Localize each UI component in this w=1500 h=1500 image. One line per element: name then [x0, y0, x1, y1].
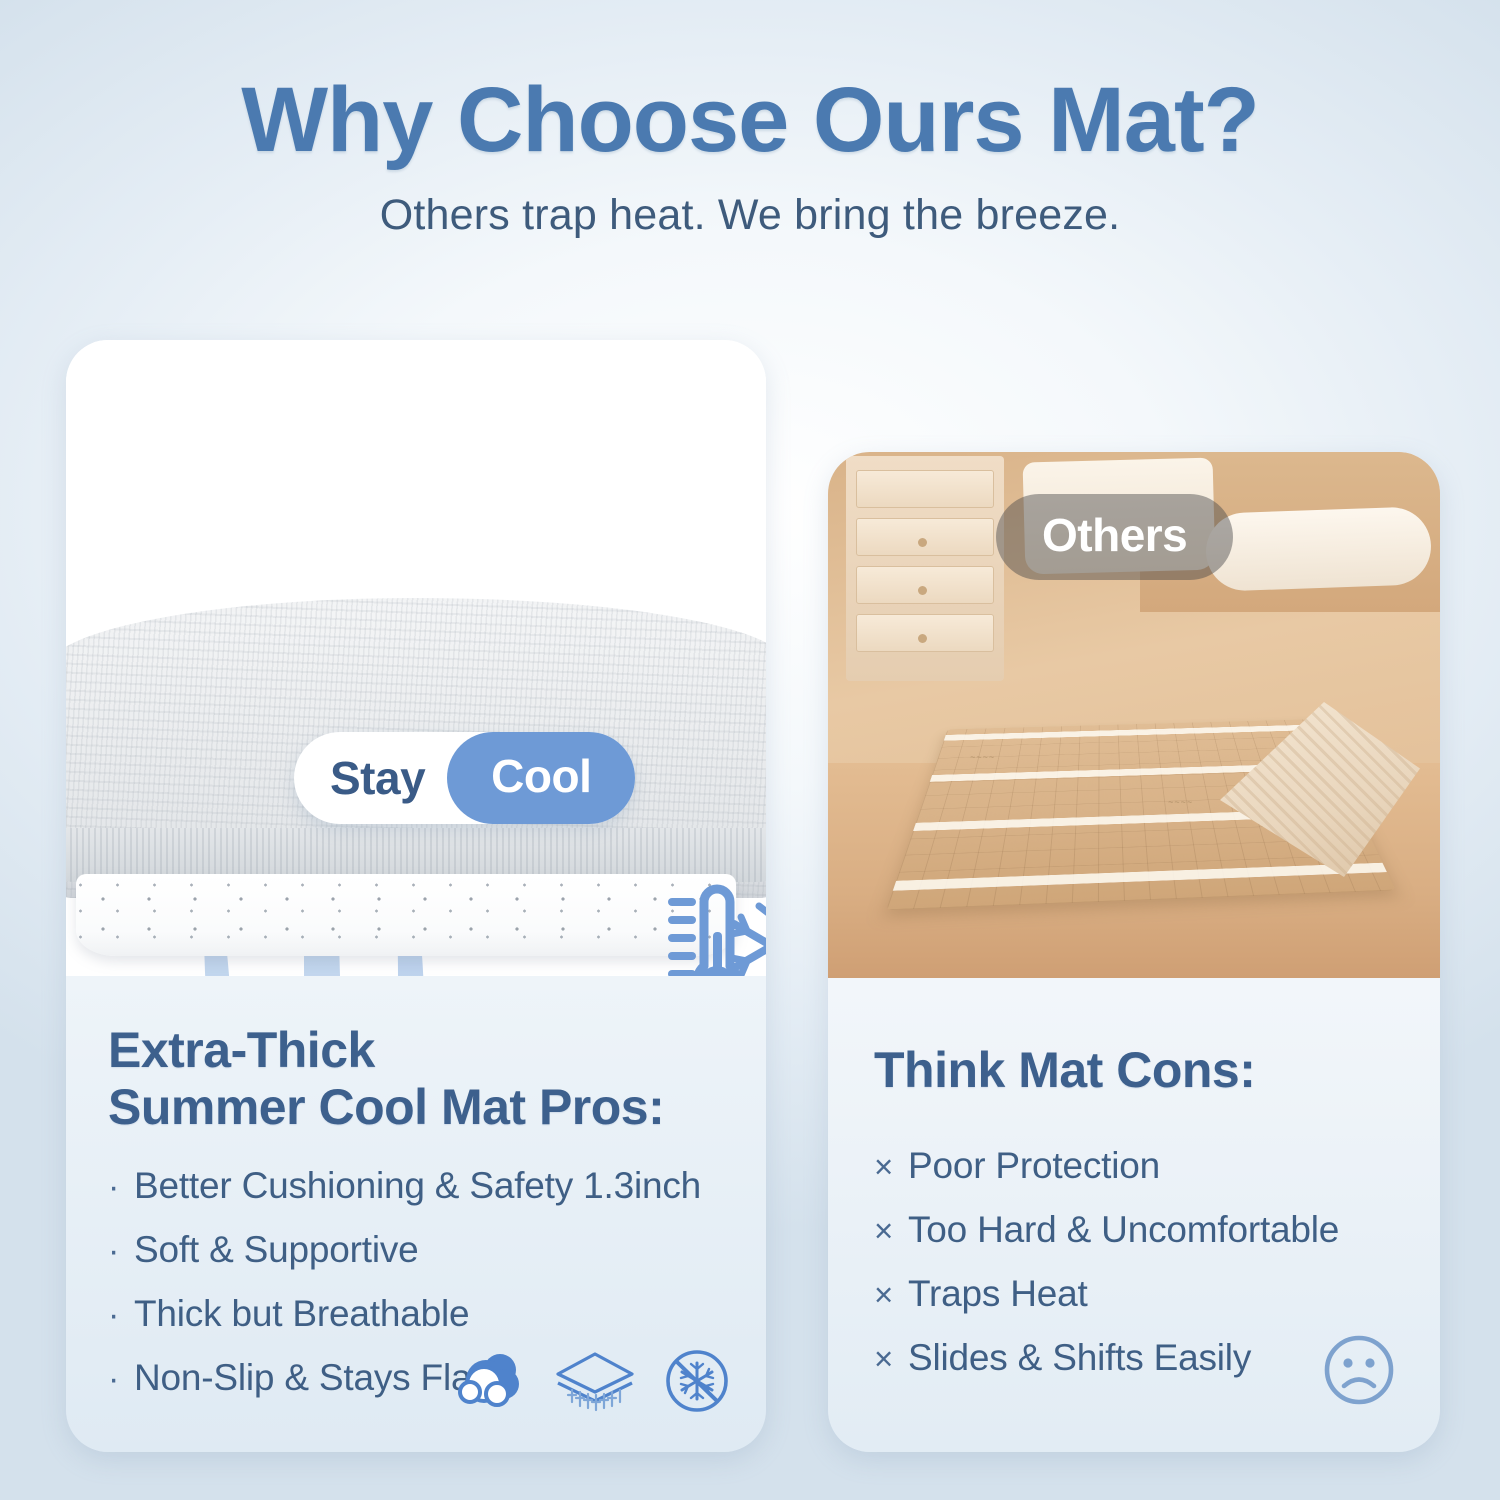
others-mat-card: ~~~~ ~~~~ Others Think Mat Cons: × Poor … [828, 452, 1440, 1452]
cons-icon-row [1322, 1333, 1396, 1412]
no-mites-icon [664, 1348, 730, 1414]
ours-mat-card: Stay Cool Extra-Thick Summer Cool Mat Pr… [66, 340, 766, 1452]
list-item: × Traps Heat [874, 1273, 1404, 1315]
bullet-icon: · [108, 1296, 134, 1335]
nightstand [846, 456, 1004, 681]
cool-label: Cool [447, 732, 635, 824]
page-title: Why Choose Ours Mat? [0, 72, 1500, 169]
list-item-label: Too Hard & Uncomfortable [908, 1209, 1339, 1251]
mat-brand-text: ~~~~ [1168, 797, 1193, 807]
list-item: · Better Cushioning & Safety 1.3inch [108, 1165, 726, 1207]
bullet-icon: · [108, 1360, 134, 1399]
sad-face-icon [1322, 1333, 1396, 1407]
list-item: × Too Hard & Uncomfortable [874, 1209, 1404, 1251]
bullet-icon: · [108, 1168, 134, 1207]
list-item: · Thick but Breathable [108, 1293, 726, 1335]
stay-cool-badge: Stay Cool [294, 732, 635, 824]
list-item-label: Better Cushioning & Safety 1.3inch [134, 1165, 701, 1207]
ours-mat-photo [66, 340, 766, 976]
pros-title: Extra-Thick Summer Cool Mat Pros: [108, 1022, 726, 1135]
cross-icon: × [874, 1340, 908, 1378]
list-item-label: Poor Protection [908, 1145, 1160, 1187]
cloud-soft-icon [456, 1350, 526, 1412]
list-item-label: Traps Heat [908, 1273, 1088, 1315]
cross-icon: × [874, 1148, 908, 1186]
cons-title: Think Mat Cons: [874, 1042, 1404, 1099]
list-item: · Soft & Supportive [108, 1229, 726, 1271]
memory-foam-base [76, 874, 736, 956]
others-badge: Others [996, 494, 1233, 580]
cross-icon: × [874, 1276, 908, 1314]
mat-brand-text: ~~~~ [970, 752, 995, 762]
list-item: × Poor Protection [874, 1145, 1404, 1187]
pros-title-line1: Extra-Thick [108, 1022, 375, 1078]
infographic-page: Why Choose Ours Mat? Others trap heat. W… [0, 0, 1500, 1500]
stay-label: Stay [330, 751, 447, 805]
list-item-label: Thick but Breathable [134, 1293, 469, 1335]
thermometer-snowflake-icon [644, 868, 766, 976]
cross-icon: × [874, 1212, 908, 1250]
breathable-layers-icon [552, 1350, 638, 1412]
list-item-label: Non-Slip & Stays Flat [134, 1357, 481, 1399]
bed-pillow-side [1205, 506, 1433, 592]
page-subtitle: Others trap heat. We bring the breeze. [0, 191, 1500, 240]
pros-icon-row [456, 1348, 730, 1414]
list-item-label: Soft & Supportive [134, 1229, 419, 1271]
list-item-label: Slides & Shifts Easily [908, 1337, 1251, 1379]
pros-title-line2: Summer Cool Mat Pros: [108, 1079, 664, 1135]
others-mat-photo: ~~~~ ~~~~ Others [828, 452, 1440, 978]
bullet-icon: · [108, 1232, 134, 1271]
header: Why Choose Ours Mat? Others trap heat. W… [0, 0, 1500, 240]
